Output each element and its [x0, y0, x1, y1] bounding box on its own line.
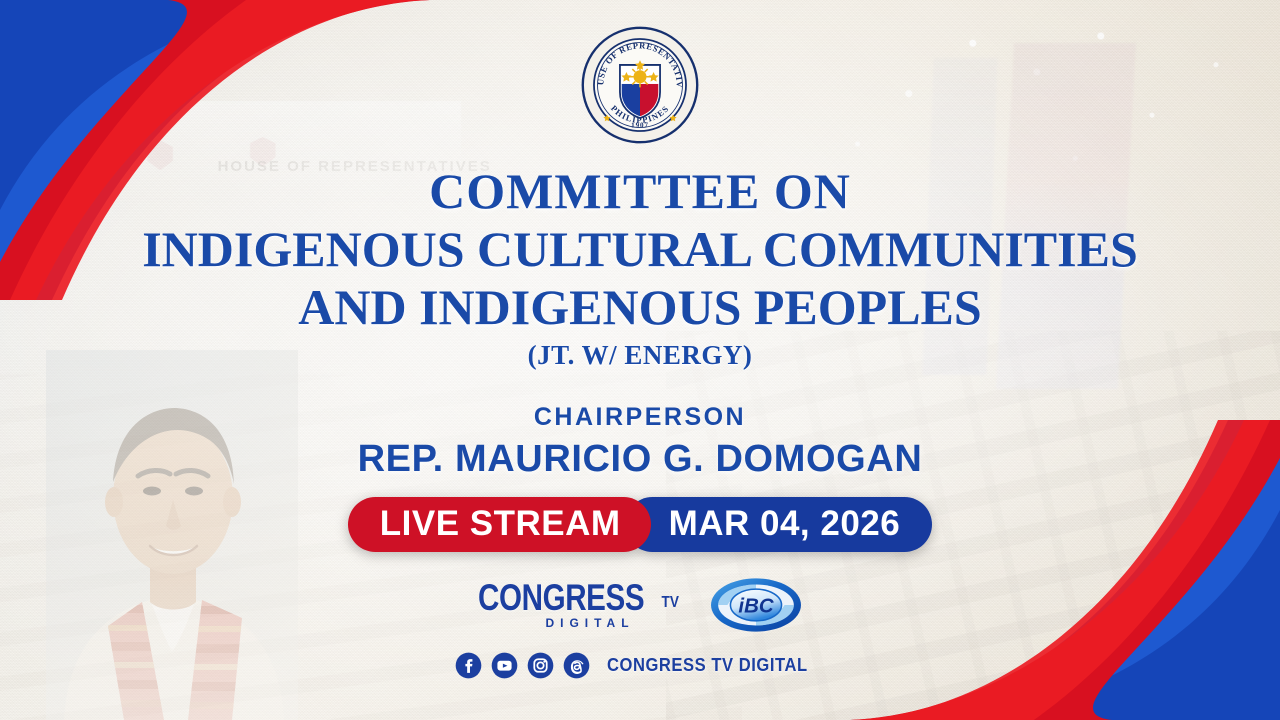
broadcast-date-label: MAR 04, 2026 — [625, 497, 933, 552]
title-line-2: INDIGENOUS CULTURAL COMMUNITIES — [142, 224, 1138, 274]
ibc-logo-icon: iBC — [710, 576, 802, 634]
svg-text:1907: 1907 — [631, 121, 649, 129]
congress-tv-digital-logo: CONGRESS TV DIGITAL — [478, 580, 680, 630]
chairperson-name: REP. MAURICIO G. DOMOGAN — [358, 438, 923, 481]
facebook-icon[interactable] — [455, 652, 482, 679]
social-handle: CONGRESS TV DIGITAL — [607, 655, 808, 676]
livestream-badge: LIVE STREAM MAR 04, 2026 — [348, 497, 932, 552]
instagram-icon[interactable] — [527, 652, 554, 679]
livestream-title-card: HOUSE OF REPRESENTATIVES — [0, 0, 1280, 720]
social-media-bar: CONGRESS TV DIGITAL — [455, 652, 825, 679]
congress-tv-suffix: TV — [661, 594, 678, 612]
ibc-wordmark: iBC — [739, 595, 774, 618]
title-line-1: COMMITTEE ON — [142, 166, 1138, 216]
title-card-content: HOUSE OF REPRESENTATIVES PHILIPPINES — [0, 0, 1280, 720]
broadcaster-logos: CONGRESS TV DIGITAL — [478, 576, 802, 634]
congress-wordmark: CONGRESS — [478, 580, 644, 615]
congress-digital-subtitle: DIGITAL — [545, 616, 634, 630]
house-of-representatives-seal-icon: HOUSE OF REPRESENTATIVES PHILIPPINES — [581, 26, 699, 144]
committee-title: COMMITTEE ON INDIGENOUS CULTURAL COMMUNI… — [142, 166, 1138, 369]
title-line-3: AND INDIGENOUS PEOPLES — [142, 282, 1138, 332]
live-stream-label: LIVE STREAM — [348, 497, 651, 552]
title-subtitle: (JT. W/ ENERGY) — [142, 342, 1138, 369]
youtube-icon[interactable] — [491, 652, 518, 679]
chairperson-role-label: CHAIRPERSON — [534, 403, 746, 432]
threads-icon[interactable] — [563, 652, 590, 679]
